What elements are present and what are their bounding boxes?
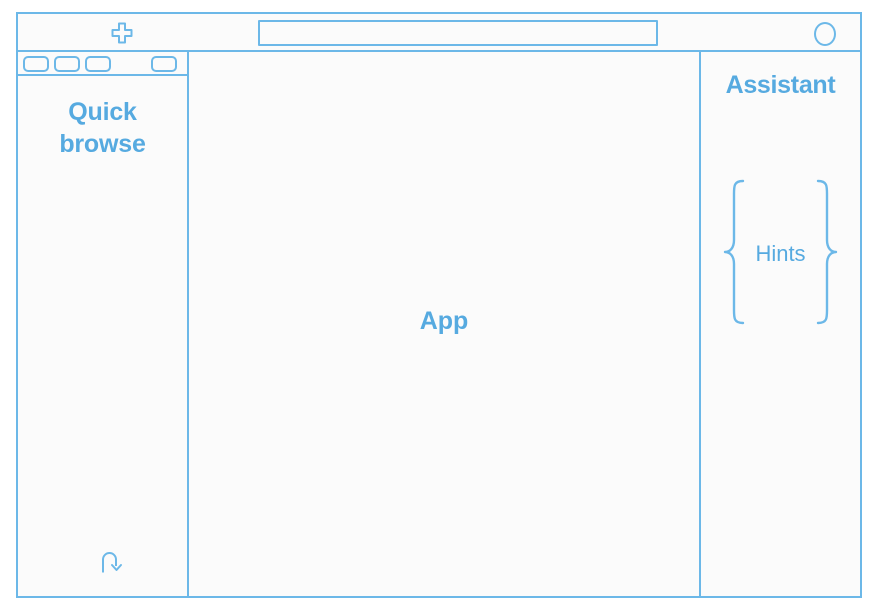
assistant-heading: Assistant — [701, 71, 860, 100]
main-columns: Quick browse App Assistant — [18, 52, 860, 596]
tab-chip-1[interactable] — [54, 56, 80, 72]
app-label: App — [420, 307, 469, 336]
account-button[interactable] — [812, 21, 838, 47]
tab-chip-0[interactable] — [23, 56, 49, 72]
address-input[interactable] — [260, 22, 656, 44]
sidebar-content-area — [18, 160, 187, 538]
assistant-panel: Assistant Hints — [701, 52, 860, 596]
left-brace-icon — [722, 178, 748, 331]
circle-avatar-icon — [814, 22, 836, 46]
u-turn-back-button[interactable] — [90, 542, 130, 582]
address-bar[interactable] — [258, 20, 658, 46]
tab-chip-2[interactable] — [85, 56, 111, 72]
u-turn-arrow-icon — [95, 547, 125, 577]
tab-chip-pinned[interactable] — [151, 56, 177, 72]
plus-icon — [110, 21, 134, 45]
tab-strip — [18, 52, 187, 76]
right-brace-icon — [813, 178, 839, 331]
top-toolbar — [18, 14, 860, 52]
browser-window-frame: Quick browse App Assistant — [16, 12, 862, 598]
new-tab-button[interactable] — [100, 20, 144, 46]
quick-browse-heading: Quick browse — [18, 96, 187, 160]
hints-block: Hints — [709, 180, 852, 328]
sidebar-footer — [18, 538, 187, 596]
app-content-area[interactable]: App — [189, 52, 701, 596]
quick-browse-sidebar: Quick browse — [18, 52, 189, 596]
hints-label: Hints — [748, 241, 812, 267]
